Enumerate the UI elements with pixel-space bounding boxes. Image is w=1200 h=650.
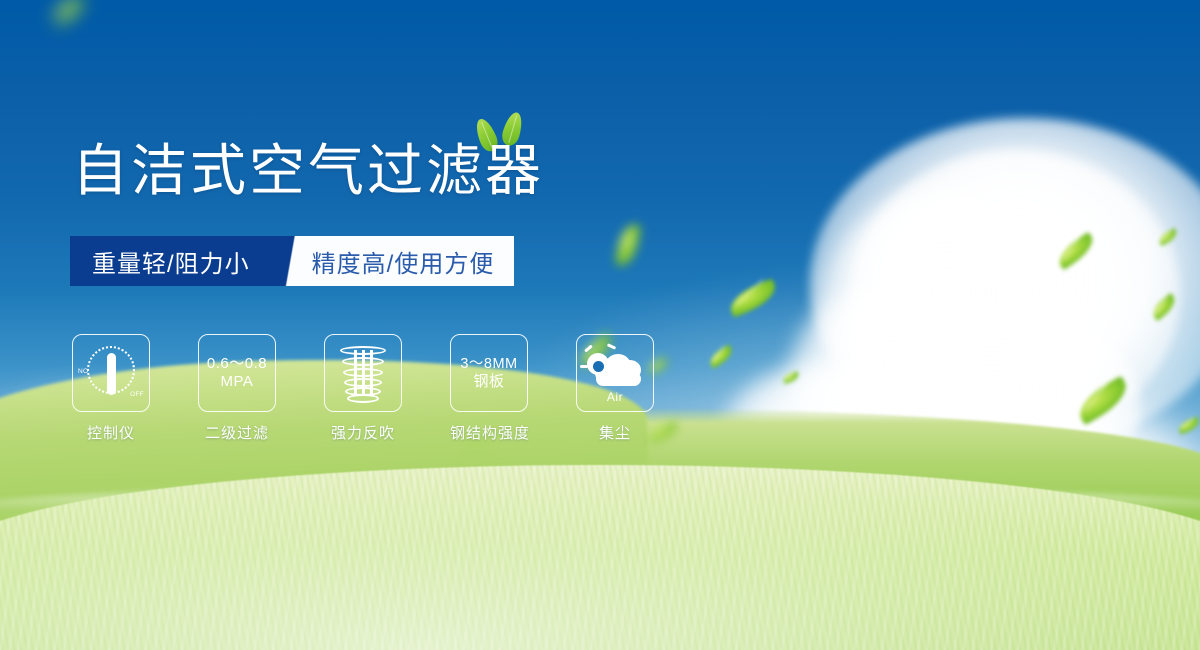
feature-item-dust: Air 集尘 (576, 334, 654, 443)
coil-ring (347, 394, 379, 403)
promo-banner: 自洁式空气过滤器 重量轻/阻力小 精度高/使用方便 NO OFF 控制仪 (0, 0, 1200, 650)
coil-ring (340, 346, 386, 355)
feature-label: 强力反吹 (324, 422, 402, 443)
gauge-label-off: OFF (130, 391, 144, 398)
feature-label: 二级过滤 (198, 422, 276, 443)
sun-cutout (593, 361, 604, 372)
pressure-range: 0.6～0.8 (207, 355, 267, 373)
cloud-air-icon: Air (585, 345, 645, 401)
feature-label: 集尘 (576, 422, 654, 443)
feature-list: NO OFF 控制仪 0.6～0.8 MPA 二级过滤 (72, 334, 654, 443)
pressure-text-icon: 0.6～0.8 MPA (207, 355, 267, 390)
pressure-unit: MPA (207, 373, 267, 391)
subtitle-segment-right: 精度高/使用方便 (304, 236, 515, 286)
feature-item-control: NO OFF 控制仪 (72, 334, 150, 443)
feature-icon-box: 0.6～0.8 MPA (198, 334, 276, 412)
cloud-base (596, 372, 641, 386)
page-title: 自洁式空气过滤器 (72, 143, 544, 199)
feature-label: 钢结构强度 (450, 422, 528, 443)
sun-ray (580, 365, 588, 368)
air-label: Air (585, 390, 645, 404)
feature-item-blowback: 强力反吹 (324, 334, 402, 443)
banner-content: 自洁式空气过滤器 重量轻/阻力小 精度高/使用方便 NO OFF 控制仪 (0, 0, 1200, 650)
sun-ray (607, 343, 616, 350)
feature-label: 控制仪 (72, 422, 150, 443)
steel-thickness: 3～8MM (460, 356, 517, 373)
gauge-icon: NO OFF (80, 342, 142, 404)
feature-item-steel: 3～8MM 钢板 钢结构强度 (450, 334, 528, 443)
feature-icon-box: Air (576, 334, 654, 412)
steel-material: 钢板 (460, 373, 517, 391)
steel-text-icon: 3～8MM 钢板 (460, 356, 517, 391)
coil-ring (342, 357, 384, 366)
coil-ring (344, 378, 382, 387)
subtitle-divider (278, 236, 304, 286)
feature-icon-box (324, 334, 402, 412)
feature-item-pressure: 0.6～0.8 MPA 二级过滤 (198, 334, 276, 443)
feature-icon-box: NO OFF (72, 334, 150, 412)
subtitle-bar: 重量轻/阻力小 精度高/使用方便 (70, 236, 514, 286)
gauge-label-no: NO (78, 368, 88, 375)
gauge-needle (107, 353, 116, 395)
feature-icon-box: 3～8MM 钢板 (450, 334, 528, 412)
sun-ray (584, 344, 593, 352)
coil-ring (343, 368, 383, 377)
coil-icon (338, 344, 388, 402)
subtitle-segment-left: 重量轻/阻力小 (70, 236, 278, 286)
